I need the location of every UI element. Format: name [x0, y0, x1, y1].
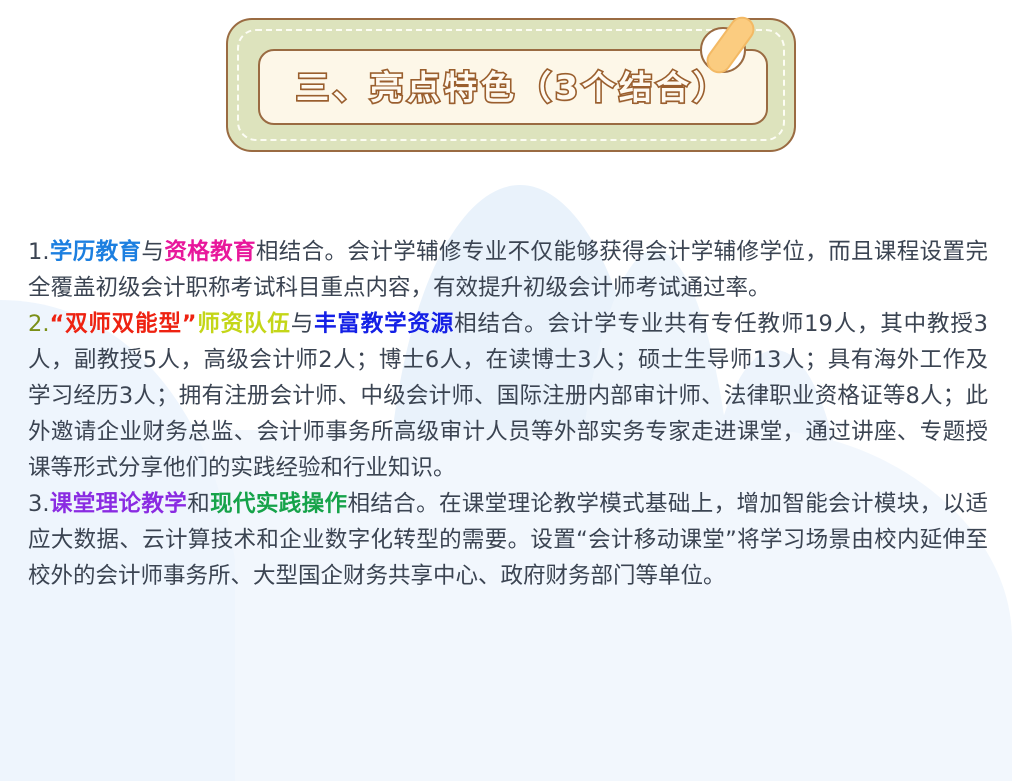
highlight-run: 丰富教学资源	[314, 311, 454, 337]
page-title: 三、亮点特色（3个结合）	[296, 71, 730, 104]
paragraph-number: 1.	[28, 239, 49, 265]
text-run: 与	[291, 311, 314, 337]
banner-inner-panel: 三、亮点特色（3个结合）	[258, 49, 768, 125]
highlight-run: 师资队伍	[197, 311, 291, 337]
paragraph-3: 3.课堂理论教学和现代实践操作相结合。在课堂理论教学模式基础上，增加智能会计模块…	[28, 486, 988, 594]
highlight-run: 资格教育	[164, 239, 256, 265]
section-banner: 三、亮点特色（3个结合）	[226, 18, 796, 152]
paragraph-2: 2.“双师双能型”师资队伍与丰富教学资源相结合。会计学专业共有专任教师19人，其…	[28, 306, 988, 486]
paragraph-number: 2.	[28, 311, 49, 337]
highlight-run: 现代实践操作	[210, 491, 347, 517]
paragraph-number: 3.	[28, 491, 49, 517]
highlight-run: “双师双能型”	[49, 311, 196, 337]
paragraph-1: 1.学历教育与资格教育相结合。会计学辅修专业不仅能够获得会计学辅修学位，而且课程…	[28, 234, 988, 306]
text-run: 与	[141, 239, 164, 265]
text-run: 和	[187, 491, 210, 517]
content-body: 1.学历教育与资格教育相结合。会计学辅修专业不仅能够获得会计学辅修学位，而且课程…	[28, 234, 988, 594]
highlight-run: 学历教育	[49, 239, 141, 265]
highlight-run: 课堂理论教学	[49, 491, 187, 517]
